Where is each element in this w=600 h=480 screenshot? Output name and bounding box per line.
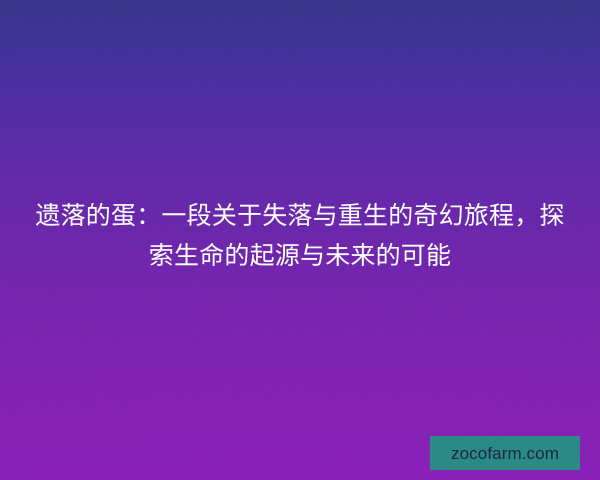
hero-card: 遗落的蛋：一段关于失落与重生的奇幻旅程，探索生命的起源与未来的可能 zocofa… bbox=[0, 0, 600, 480]
headline-container: 遗落的蛋：一段关于失落与重生的奇幻旅程，探索生命的起源与未来的可能 bbox=[0, 196, 600, 276]
page-title: 遗落的蛋：一段关于失落与重生的奇幻旅程，探索生命的起源与未来的可能 bbox=[26, 196, 574, 276]
watermark-badge[interactable]: zocofarm.com bbox=[430, 436, 580, 470]
watermark-label: zocofarm.com bbox=[451, 445, 559, 462]
